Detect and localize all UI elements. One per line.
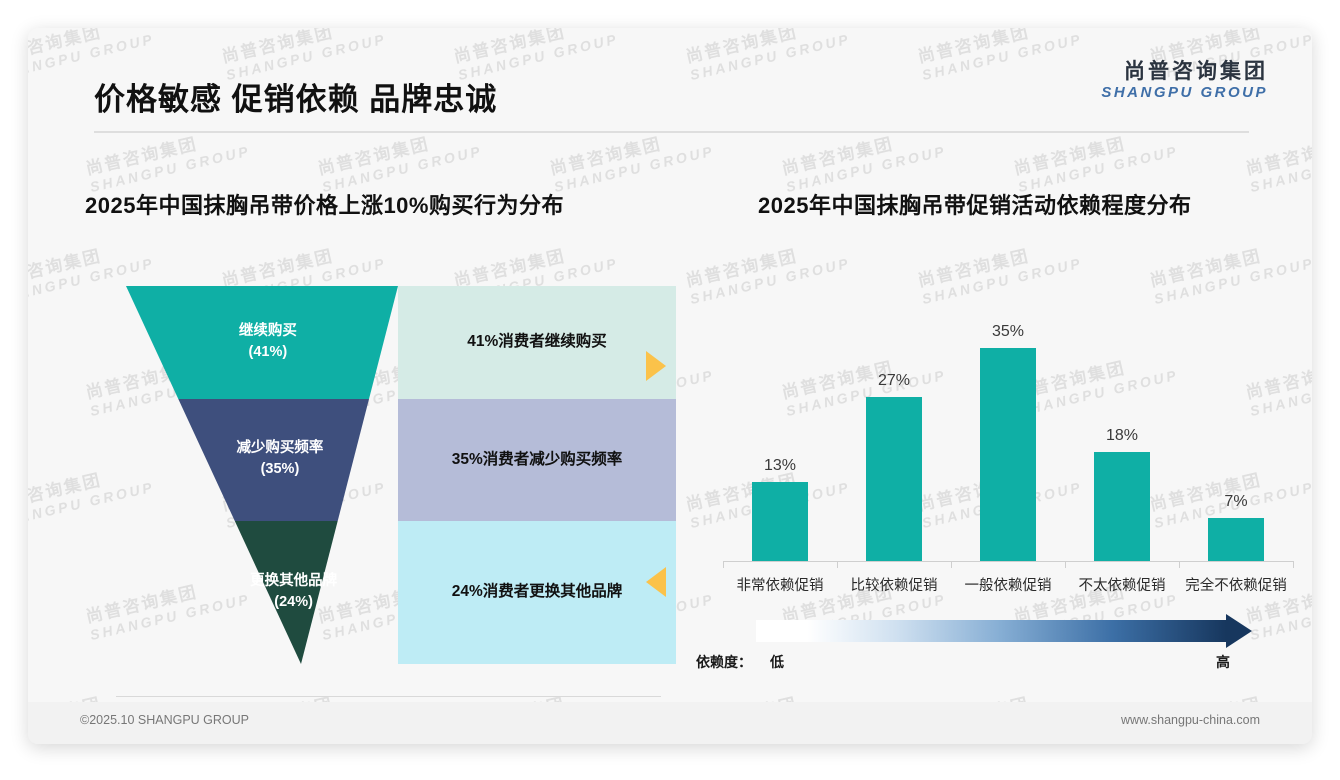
bar-rect[interactable] [1208, 518, 1264, 561]
legend-caption: 依赖度： [696, 652, 752, 672]
bar-column[interactable]: 18% [1068, 278, 1176, 561]
watermark-text: 尚普咨询集团SHANGPU GROUP [1012, 123, 1180, 195]
funnel-segment-label: 更换其他品牌(24%) [214, 571, 374, 613]
bar-rect[interactable] [752, 482, 808, 561]
bar-value-label: 35% [992, 323, 1024, 341]
bar-value-label: 18% [1106, 427, 1138, 445]
watermark-text: 尚普咨询集团SHANGPU GROUP [84, 123, 252, 195]
bar-rect[interactable] [1094, 452, 1150, 561]
bar-column[interactable]: 7% [1182, 278, 1290, 561]
bar-category-label: 非常依赖促销 [726, 574, 834, 595]
watermark-text: 尚普咨询集团SHANGPU GROUP [780, 123, 948, 195]
bar-category-label: 比较依赖促销 [840, 574, 948, 595]
axis-tick [1065, 561, 1066, 568]
arrow-left-icon [646, 567, 666, 597]
axis-tick [1293, 561, 1294, 568]
gradient-arrow-icon [1226, 614, 1252, 648]
funnel-chart: 41%消费者继续购买35%消费者减少购买频率24%消费者更换其他品牌 继续购买(… [68, 256, 688, 676]
slide-canvas: 尚普咨询集团SHANGPU GROUP尚普咨询集团SHANGPU GROUP尚普… [28, 28, 1312, 744]
bar-value-label: 27% [878, 372, 910, 390]
bar-column[interactable]: 13% [726, 278, 834, 561]
legend-high-label: 高 [1216, 652, 1230, 672]
bar-value-label: 7% [1224, 493, 1247, 511]
funnel-segment-label: 减少购买频率(35%) [200, 438, 360, 480]
left-chart-title: 2025年中国抹胸吊带价格上涨10%购买行为分布 [85, 188, 564, 220]
bar-chart: 13%27%35%18%7% 非常依赖促销比较依赖促销一般依赖促销不太依赖促销完… [718, 278, 1298, 608]
dependency-gradient-legend: 依赖度： 低 高 [718, 620, 1298, 682]
logo-english-text: SHANGPU GROUP [1101, 84, 1268, 102]
watermark-text: 尚普咨询集团SHANGPU GROUP [548, 123, 716, 195]
axis-tick [1179, 561, 1180, 568]
note-divider [116, 696, 661, 697]
axis-tick [837, 561, 838, 568]
bar-rect[interactable] [866, 397, 922, 561]
slide-header: 价格敏感 促销依赖 品牌忠诚 尚普咨询集团 SHANGPU GROUP [28, 28, 1312, 118]
bar-category-label: 完全不依赖促销 [1182, 574, 1290, 595]
legend-low-label: 低 [770, 652, 784, 672]
bar-rect[interactable] [980, 348, 1036, 561]
bar-category-labels: 非常依赖促销比较依赖促销一般依赖促销不太依赖促销完全不依赖促销 [723, 574, 1293, 595]
footer-copyright: ©2025.10 SHANGPU GROUP [80, 713, 249, 727]
bar-column[interactable]: 35% [954, 278, 1062, 561]
brand-logo: 尚普咨询集团 SHANGPU GROUP [1101, 60, 1268, 102]
page-title: 价格敏感 促销依赖 品牌忠诚 [94, 74, 497, 119]
watermark-text: 尚普咨询集团SHANGPU GROUP [316, 123, 484, 195]
watermark-text: 尚普咨询集团SHANGPU GROUP [1244, 123, 1312, 195]
bar-axis-line [723, 561, 1293, 562]
slide-footer: ©2025.10 SHANGPU GROUP www.shangpu-china… [28, 702, 1312, 744]
logo-chinese-text: 尚普咨询集团 [1101, 60, 1268, 84]
funnel-shape [68, 256, 688, 676]
axis-tick [723, 561, 724, 568]
footer-website: www.shangpu-china.com [1121, 713, 1260, 727]
axis-tick [951, 561, 952, 568]
bar-value-label: 13% [764, 457, 796, 475]
bar-category-label: 不太依赖促销 [1068, 574, 1176, 595]
header-divider [94, 131, 1249, 133]
bar-column[interactable]: 27% [840, 278, 948, 561]
gradient-bar [756, 620, 1226, 642]
bar-plot-area: 13%27%35%18%7% [723, 278, 1293, 561]
funnel-segment-label: 继续购买(41%) [188, 321, 348, 363]
right-chart-title: 2025年中国抹胸吊带促销活动依赖程度分布 [758, 188, 1191, 220]
bar-category-label: 一般依赖促销 [954, 574, 1062, 595]
arrow-right-icon [646, 351, 666, 381]
